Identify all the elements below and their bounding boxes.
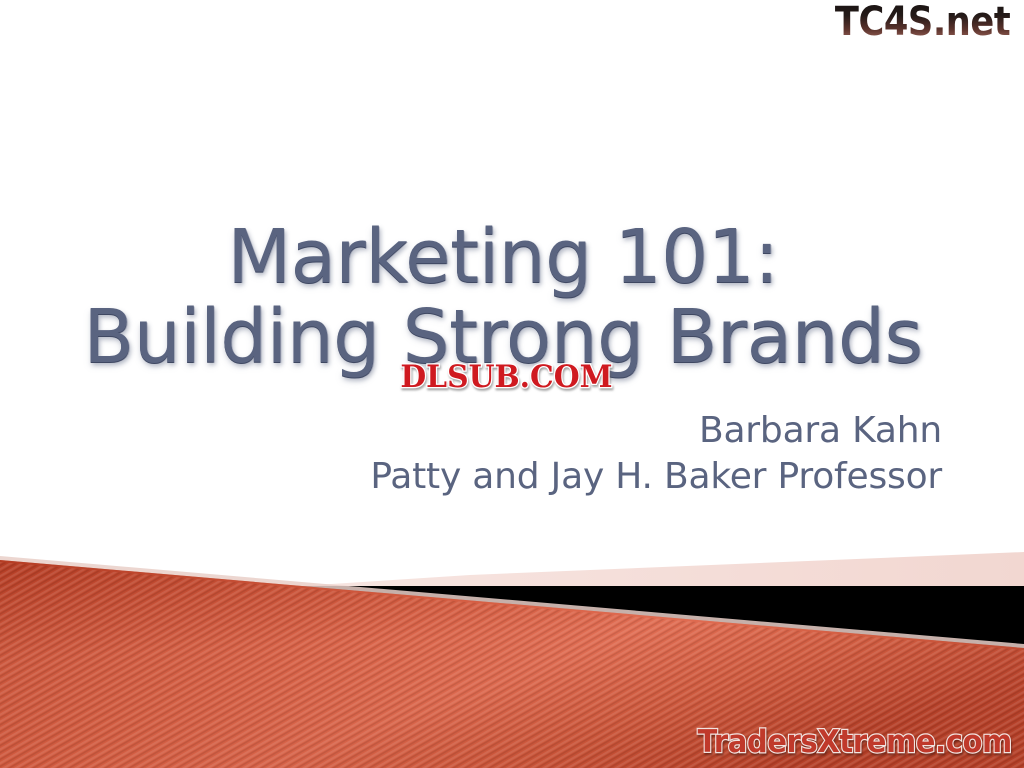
black-band [120,586,1024,648]
author-title: Patty and Jay H. Baker Professor [370,454,942,500]
tradersxtreme-watermark: TradersXtreme.com [698,727,1012,758]
dlsub-watermark: DLSUB.COM [374,362,639,393]
author-name: Barbara Kahn [370,408,942,454]
orange-band-highlight [0,556,1024,650]
slide-title: Marketing 101: Building Strong Brands [60,218,946,378]
pink-band-upper [300,552,1024,586]
pink-band [420,556,1024,588]
slide-title-line-1: Marketing 101: [60,218,946,298]
slide-subtitle: Barbara Kahn Patty and Jay H. Baker Prof… [370,408,942,500]
presentation-title-slide: TC4S.net [0,0,1024,768]
tc4s-watermark: TC4S.net [835,2,1010,42]
